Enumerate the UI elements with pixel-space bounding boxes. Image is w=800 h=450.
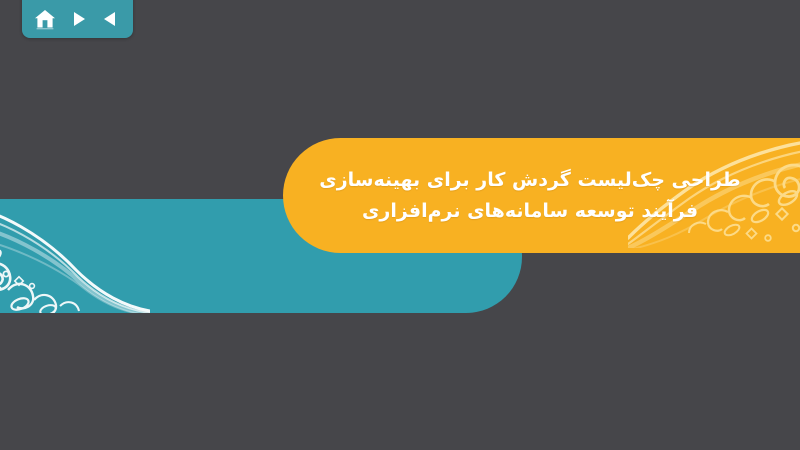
home-button[interactable] xyxy=(31,6,59,32)
page-title-line-1: طراحی چک‌لیست گردش کار برای بهینه‌سازی xyxy=(319,165,800,196)
back-button[interactable] xyxy=(97,6,125,32)
top-navigation-bar xyxy=(22,0,133,38)
title-banner: طراحی چک‌لیست گردش کار برای بهینه‌سازی ف… xyxy=(283,138,800,253)
home-icon xyxy=(34,9,56,30)
arabesque-corner-ornament xyxy=(0,199,150,313)
triangle-right-icon xyxy=(68,9,88,29)
page-title-line-2: فرآیند توسعه سامانه‌های نرم‌افزاری xyxy=(362,196,764,227)
forward-button[interactable] xyxy=(64,6,92,32)
triangle-left-icon xyxy=(101,9,121,29)
